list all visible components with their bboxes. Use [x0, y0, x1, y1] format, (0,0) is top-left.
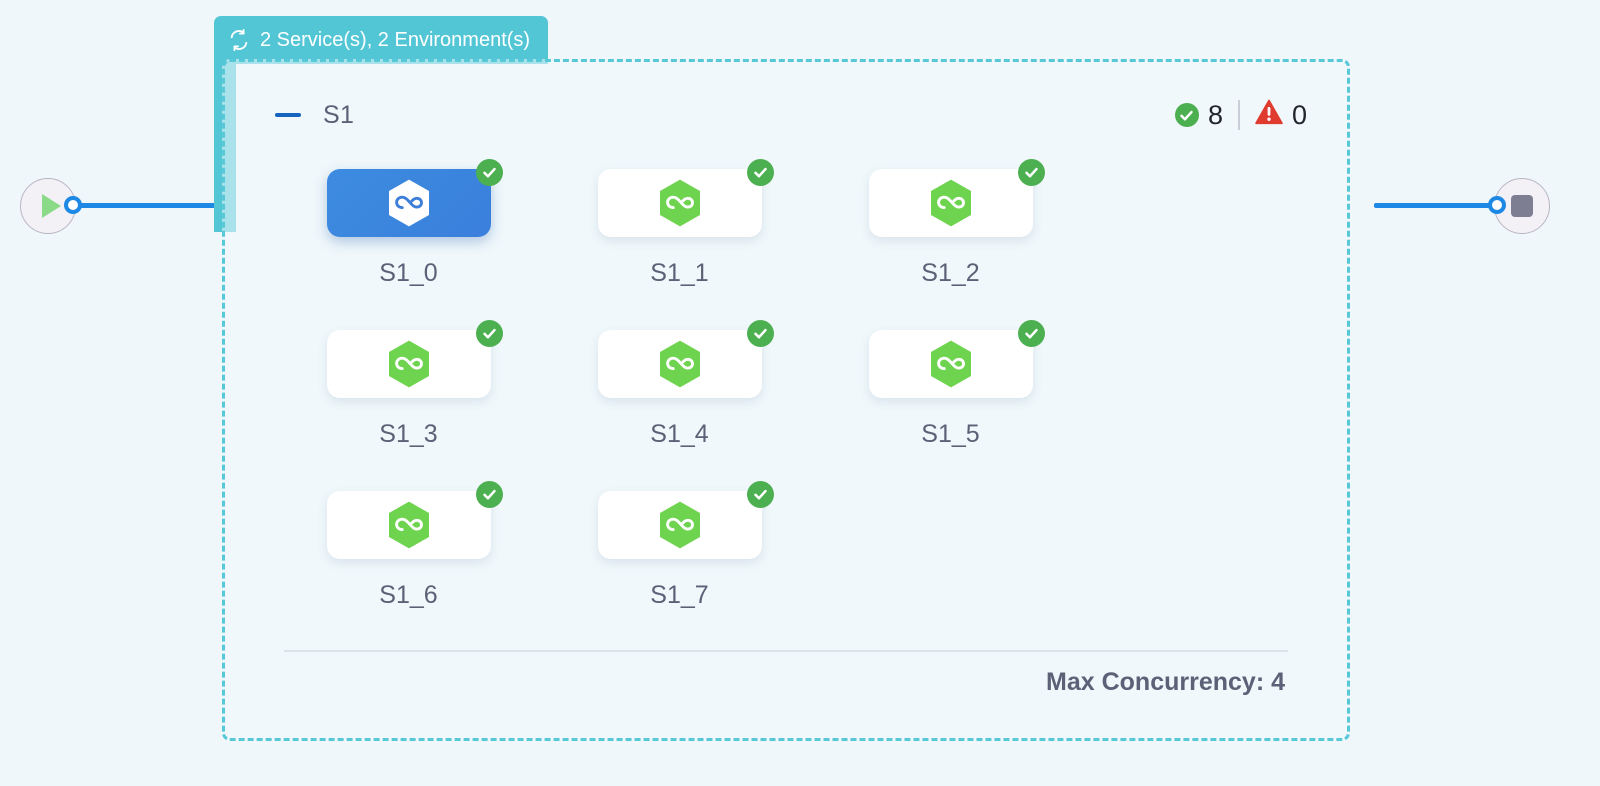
edge-group-to-end [1374, 203, 1498, 208]
play-icon [42, 194, 61, 218]
status-divider [1238, 100, 1240, 130]
group-summary-badge[interactable]: 2 Service(s), 2 Environment(s) [214, 16, 548, 64]
hexagon-infinity-icon [657, 500, 703, 550]
status-success-count: 8 [1208, 100, 1223, 131]
service-node-card[interactable] [869, 169, 1033, 237]
service-node-cell: S1_0 [273, 169, 544, 288]
stop-icon [1511, 195, 1533, 217]
service-node-label: S1_1 [650, 259, 708, 288]
hexagon-infinity-icon [386, 178, 432, 228]
status-warning: 0 [1255, 99, 1307, 132]
max-concurrency-label: Max Concurrency: 4 [1046, 668, 1285, 697]
service-node-label: S1_2 [921, 259, 979, 288]
end-node-input-port[interactable] [1488, 196, 1506, 214]
service-node-label: S1_7 [650, 581, 708, 610]
minus-icon[interactable] [275, 113, 301, 117]
group-status-summary: 8 0 [1175, 99, 1307, 132]
flow-canvas: 2 Service(s), 2 Environment(s) S1 8 [0, 0, 1600, 786]
check-circle-icon [1018, 159, 1045, 186]
hexagon-infinity-icon [928, 339, 974, 389]
service-node-cell: S1_7 [544, 491, 815, 610]
service-node-cell: S1_6 [273, 491, 544, 610]
service-node-cell: S1_2 [815, 169, 1086, 288]
check-circle-icon [1175, 103, 1199, 127]
group-summary-badge-label: 2 Service(s), 2 Environment(s) [260, 29, 530, 52]
check-circle-icon [476, 320, 503, 347]
service-node-card[interactable] [598, 330, 762, 398]
service-node-cell: S1_5 [815, 330, 1086, 449]
check-circle-icon [476, 481, 503, 508]
service-node-cell: S1_4 [544, 330, 815, 449]
service-node-card[interactable] [327, 169, 491, 237]
service-group-container[interactable]: S1 8 [222, 59, 1350, 741]
check-circle-icon [747, 481, 774, 508]
service-node-label: S1_6 [379, 581, 437, 610]
service-node-grid: S1_0S1_1S1_2S1_3S1_4S1_5S1_6S1_7 [273, 169, 1308, 610]
hexagon-infinity-icon [657, 178, 703, 228]
service-node-card[interactable] [327, 491, 491, 559]
service-node-card[interactable] [598, 491, 762, 559]
group-header: S1 8 [275, 95, 1307, 135]
status-warning-count: 0 [1292, 100, 1307, 131]
service-node-cell: S1_3 [273, 330, 544, 449]
service-node-cell: S1_1 [544, 169, 815, 288]
group-footer-divider [284, 650, 1288, 652]
start-node-output-port[interactable] [64, 196, 82, 214]
service-node-label: S1_4 [650, 420, 708, 449]
warning-triangle-icon [1255, 99, 1283, 132]
hexagon-infinity-icon [657, 339, 703, 389]
hexagon-infinity-icon [386, 339, 432, 389]
service-node-label: S1_0 [379, 259, 437, 288]
check-circle-icon [1018, 320, 1045, 347]
service-node-card[interactable] [327, 330, 491, 398]
service-node-label: S1_5 [921, 420, 979, 449]
loop-icon [228, 29, 250, 51]
check-circle-icon [747, 320, 774, 347]
service-node-card[interactable] [869, 330, 1033, 398]
group-title: S1 [323, 101, 354, 130]
service-node-card[interactable] [598, 169, 762, 237]
status-success: 8 [1175, 100, 1223, 131]
hexagon-infinity-icon [928, 178, 974, 228]
check-circle-icon [476, 159, 503, 186]
hexagon-infinity-icon [386, 500, 432, 550]
check-circle-icon [747, 159, 774, 186]
edge-start-to-group [76, 203, 226, 208]
service-node-label: S1_3 [379, 420, 437, 449]
